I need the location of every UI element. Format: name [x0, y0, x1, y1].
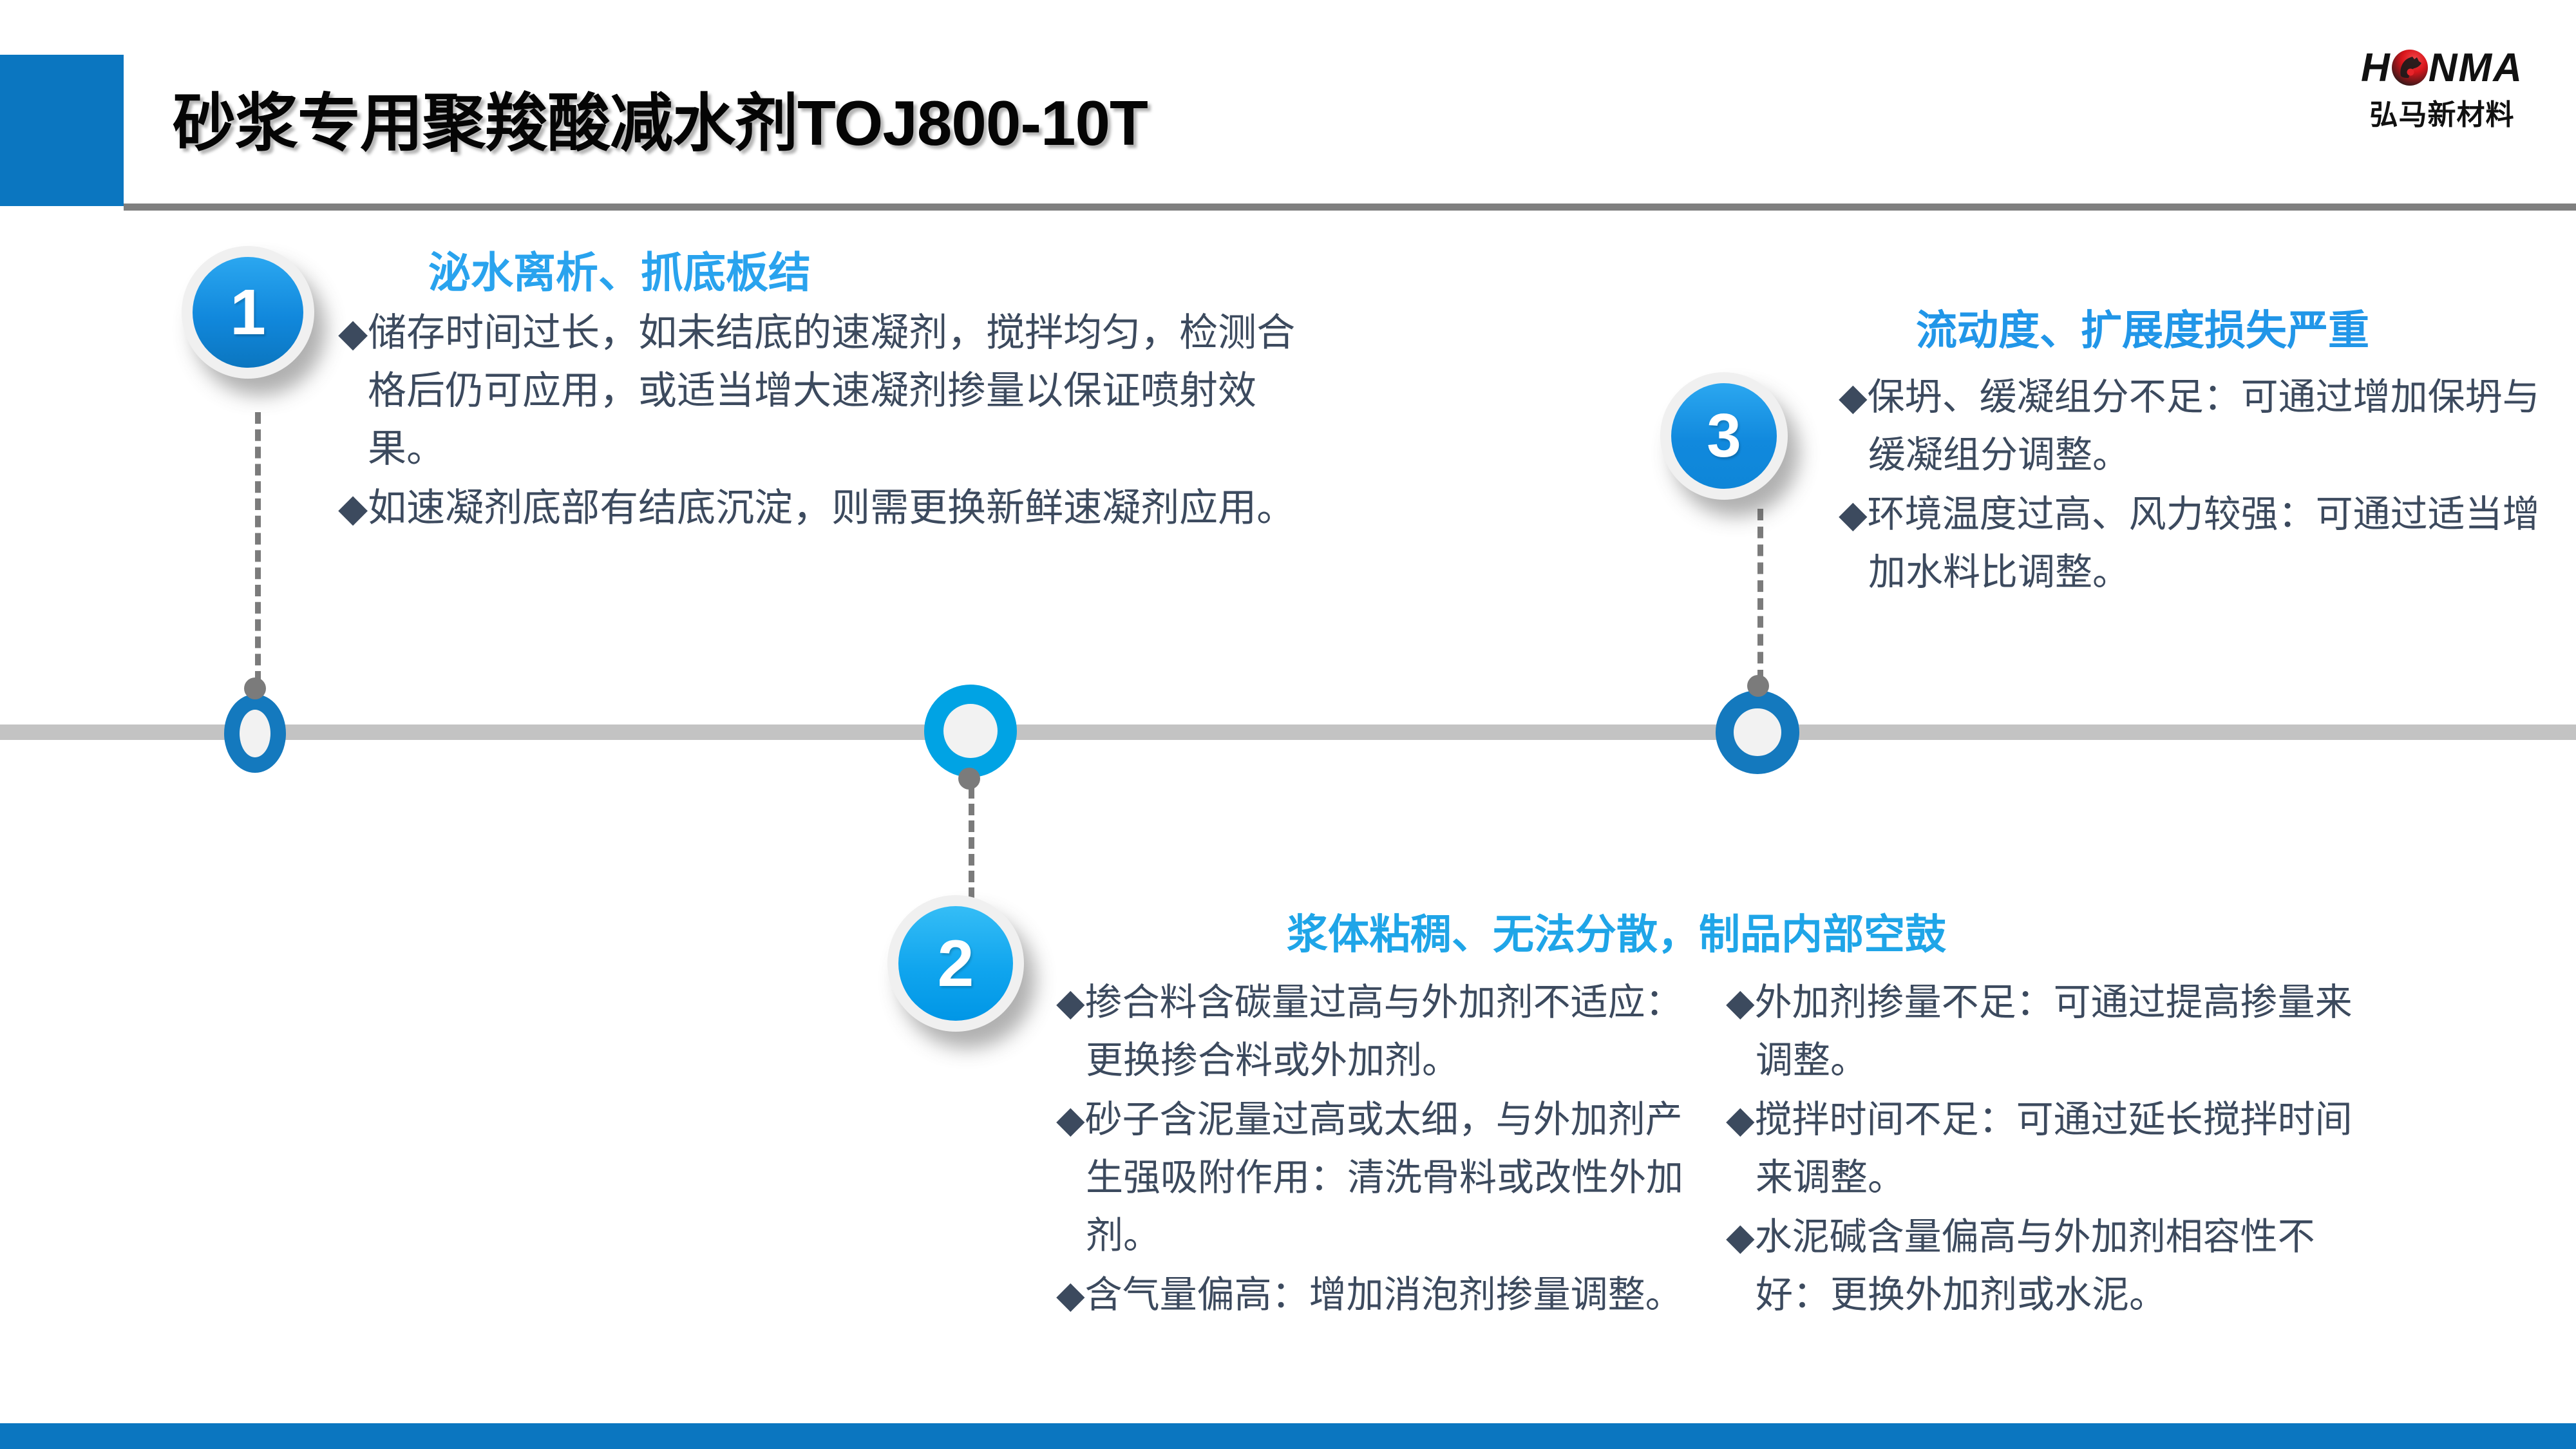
- list-item: ◆如速凝剂底部有结底沉淀，则需更换新鲜速凝剂应用。: [338, 479, 1311, 537]
- logo-wordmark: H NMA: [2345, 45, 2539, 91]
- list-item-text: 保坍、缓凝组分不足：可通过增加保坍与缓凝组分调整。: [1868, 376, 2540, 476]
- page-title: 砂浆专用聚羧酸减水剂TOJ800-10T: [173, 72, 1148, 164]
- section-2-bullets-left: ◆掺合料含碳量过高与外加剂不适应：更换掺合料或外加剂。 ◆砂子含泥量过高或太细，…: [1056, 974, 1713, 1325]
- timeline-dashed-line-3: [1757, 509, 1763, 681]
- diamond-bullet-icon: ◆: [1056, 1274, 1085, 1316]
- section-1-title: 泌水离析、抓底板结: [428, 238, 811, 300]
- section-3-number-badge[interactable]: 3: [1660, 372, 1788, 500]
- diamond-bullet-icon: ◆: [1839, 493, 1868, 535]
- section-1-number: 1: [193, 257, 303, 368]
- diamond-bullet-icon: ◆: [1726, 1216, 1755, 1258]
- list-item: ◆搅拌时间不足：可通过延长搅拌时间来调整。: [1726, 1091, 2389, 1207]
- section-3-number: 3: [1671, 383, 1777, 489]
- list-item-text: 储存时间过长，如未结底的速凝剂，搅拌均匀，检测合格后仍可应用，或适当增大速凝剂掺…: [368, 311, 1295, 470]
- diamond-bullet-icon: ◆: [1726, 1099, 1755, 1141]
- list-item-text: 水泥碱含量偏高与外加剂相容性不好：更换外加剂或水泥。: [1755, 1216, 2315, 1316]
- logo-wordmark-right: NMA: [2429, 46, 2523, 90]
- diamond-bullet-icon: ◆: [1056, 981, 1085, 1023]
- section-1-number-badge[interactable]: 1: [182, 246, 314, 379]
- list-item-text: 搅拌时间不足：可通过延长搅拌时间来调整。: [1755, 1099, 2353, 1198]
- section-3-bullets: ◆保坍、缓凝组分不足：可通过增加保坍与缓凝组分调整。 ◆环境温度过高、风力较强：…: [1839, 368, 2560, 603]
- list-item-text: 掺合料含碳量过高与外加剂不适应：更换掺合料或外加剂。: [1085, 981, 1683, 1081]
- diamond-bullet-icon: ◆: [1726, 981, 1755, 1023]
- company-logo: H NMA 弘马新材料: [2345, 45, 2539, 142]
- list-item-text: 环境温度过高、风力较强：可通过适当增加水料比调整。: [1868, 493, 2540, 593]
- section-1-bullets: ◆储存时间过长，如未结底的速凝剂，搅拌均匀，检测合格后仍可应用，或适当增大速凝剂…: [338, 304, 1311, 538]
- list-item: ◆水泥碱含量偏高与外加剂相容性不好：更换外加剂或水泥。: [1726, 1208, 2389, 1324]
- section-2-bullets-right: ◆外加剂掺量不足：可通过提高掺量来调整。 ◆搅拌时间不足：可通过延长搅拌时间来调…: [1726, 974, 2389, 1325]
- diamond-bullet-icon: ◆: [1839, 376, 1868, 418]
- logo-chinese-name: 弘马新材料: [2345, 91, 2539, 133]
- list-item: ◆外加剂掺量不足：可通过提高掺量来调整。: [1726, 974, 2389, 1090]
- timeline-marker-1[interactable]: [224, 694, 286, 773]
- footer-accent-bar: [0, 1423, 2576, 1449]
- list-item: ◆储存时间过长，如未结底的速凝剂，搅拌均匀，检测合格后仍可应用，或适当增大速凝剂…: [338, 304, 1311, 478]
- horse-head-globe-icon: [2391, 49, 2429, 86]
- list-item-text: 含气量偏高：增加消泡剂掺量调整。: [1085, 1274, 1683, 1316]
- list-item: ◆掺合料含碳量过高与外加剂不适应：更换掺合料或外加剂。: [1056, 974, 1713, 1090]
- diamond-bullet-icon: ◆: [1056, 1099, 1085, 1141]
- header-accent-block: [0, 55, 124, 206]
- timeline-marker-2[interactable]: [924, 685, 1017, 777]
- section-2-number-badge[interactable]: 2: [887, 895, 1024, 1032]
- list-item: ◆环境温度过高、风力较强：可通过适当增加水料比调整。: [1839, 486, 2560, 601]
- timeline-bar: [0, 724, 2576, 740]
- diamond-bullet-icon: ◆: [338, 311, 368, 354]
- timeline-connector-dot-2: [958, 768, 980, 790]
- list-item: ◆砂子含泥量过高或太细，与外加剂产生强吸附作用：清洗骨料或改性外加剂。: [1056, 1091, 1713, 1265]
- section-2-title: 浆体粘稠、无法分散，制品内部空鼓: [1287, 902, 1946, 961]
- header-divider-rule: [124, 204, 2576, 211]
- list-item: ◆含气量偏高：增加消泡剂掺量调整。: [1056, 1266, 1713, 1324]
- logo-wordmark-left: H: [2361, 46, 2391, 90]
- timeline-dashed-line-1: [255, 412, 261, 683]
- list-item-text: 如速凝剂底部有结底沉淀，则需更换新鲜速凝剂应用。: [368, 486, 1295, 529]
- diamond-bullet-icon: ◆: [338, 486, 368, 529]
- section-3-title: 流动度、扩展度损失严重: [1916, 298, 2369, 357]
- list-item-text: 外加剂掺量不足：可通过提高掺量来调整。: [1755, 981, 2353, 1081]
- section-2-number: 2: [898, 906, 1013, 1021]
- list-item-text: 砂子含泥量过高或太细，与外加剂产生强吸附作用：清洗骨料或改性外加剂。: [1085, 1099, 1683, 1256]
- timeline-marker-3[interactable]: [1716, 690, 1799, 774]
- list-item: ◆保坍、缓凝组分不足：可通过增加保坍与缓凝组分调整。: [1839, 368, 2560, 484]
